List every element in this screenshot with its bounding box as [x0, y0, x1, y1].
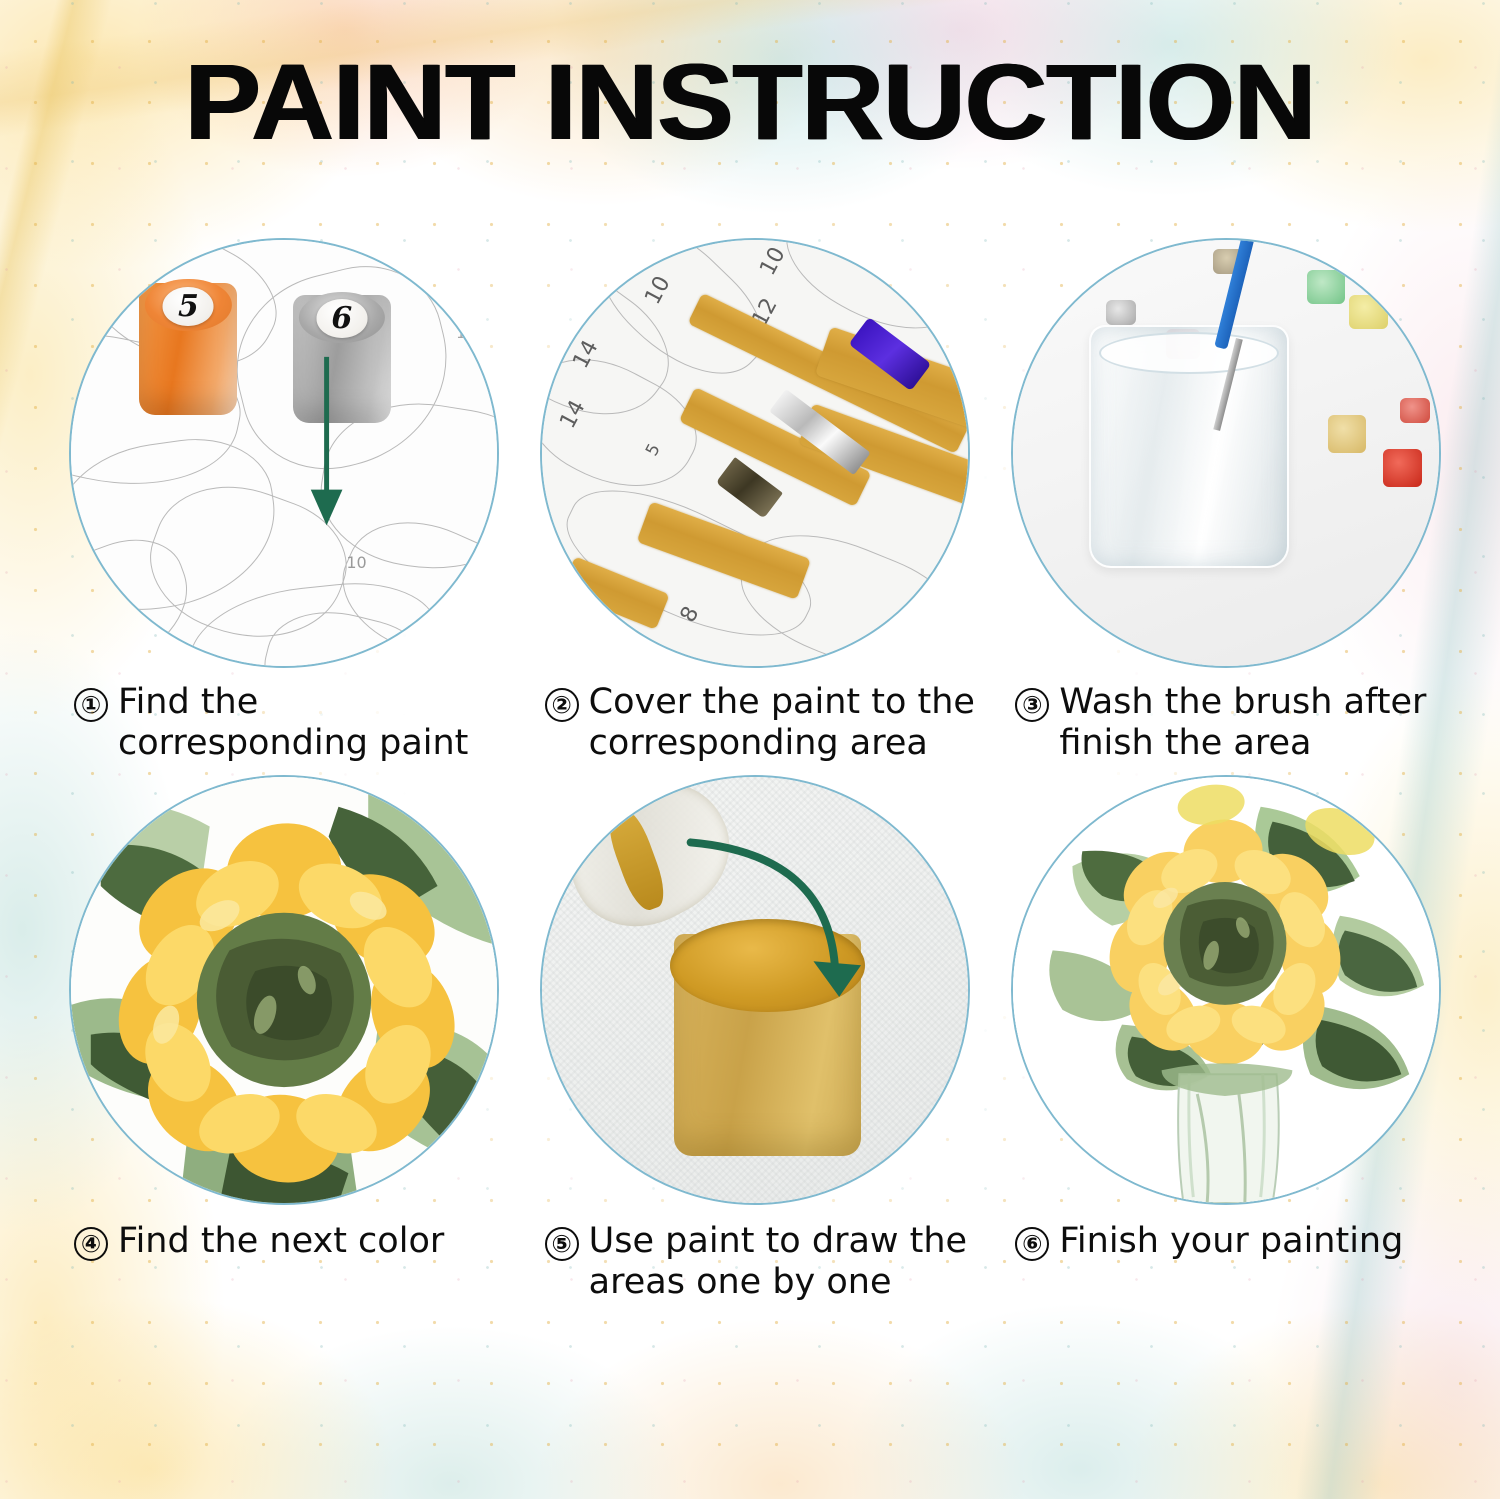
sunflower-closeup-artwork	[71, 777, 497, 1203]
paint-pot	[1307, 270, 1345, 304]
paint-instruction-poster: PAINT INSTRUCTION	[0, 0, 1500, 1499]
step-3: ③ Wash the brush after finish the area	[1001, 238, 1450, 765]
step-6-caption: ⑥ Finish your painting	[1001, 1205, 1450, 1262]
painted-sunflower-closeup-photo	[69, 775, 499, 1205]
thin-brush	[1217, 238, 1311, 436]
step-number-badge: ①	[74, 688, 108, 722]
step-1-photo-wrap: 10 12 5 6	[69, 238, 499, 668]
step-caption-text: Finish your painting	[1059, 1221, 1403, 1262]
paint-pots-on-canvas-photo: 10 12 5 6	[69, 238, 499, 668]
step-4-caption: ④ Find the next color	[60, 1205, 509, 1262]
sunflower-bouquet-artwork	[1013, 777, 1439, 1203]
step-caption-text: Find the corresponding paint	[118, 682, 509, 765]
brush-painting-canvas-photo: 10 10 12 14 14 5 8	[540, 238, 970, 668]
step-2-photo-wrap: 10 10 12 14 14 5 8	[540, 238, 970, 668]
step-caption-text: Wash the brush after finish the area	[1059, 682, 1450, 765]
step-5-photo-wrap	[540, 775, 970, 1205]
curved-arrow-icon	[542, 777, 968, 1203]
step-1-caption: ① Find the corresponding paint	[60, 668, 509, 765]
step-5: ⑤ Use paint to draw the areas one by one	[531, 775, 980, 1304]
step-4: ④ Find the next color	[60, 775, 509, 1304]
step-6-photo-wrap	[1011, 775, 1441, 1205]
step-2: 10 10 12 14 14 5 8	[531, 238, 980, 765]
step-2-caption: ② Cover the paint to the corresponding a…	[531, 668, 980, 765]
step-number-badge: ②	[545, 688, 579, 722]
paint-pot	[1328, 415, 1366, 453]
finished-sunflower-bouquet-photo	[1011, 775, 1441, 1205]
canvas-number: 10	[756, 243, 791, 279]
step-1: 10 12 5 6	[60, 238, 509, 765]
step-3-caption: ③ Wash the brush after finish the area	[1001, 668, 1450, 765]
step-caption-text: Use paint to draw the areas one by one	[589, 1221, 980, 1304]
paint-pot	[1400, 398, 1430, 424]
brush-in-water-glass-photo	[1011, 238, 1441, 668]
paint-pot	[1106, 300, 1136, 326]
paint-pot	[1349, 295, 1387, 329]
step-number-badge: ③	[1015, 688, 1049, 722]
gold-paint-pot-photo	[540, 775, 970, 1205]
step-6: ⑥ Finish your painting	[1001, 775, 1450, 1304]
down-arrow-icon	[71, 240, 497, 666]
step-3-photo-wrap	[1011, 238, 1441, 668]
step-number-badge: ⑥	[1015, 1227, 1049, 1261]
step-number-badge: ⑤	[545, 1227, 579, 1261]
paint-pot	[1383, 449, 1421, 487]
step-5-caption: ⑤ Use paint to draw the areas one by one	[531, 1205, 980, 1304]
step-caption-text: Find the next color	[118, 1221, 444, 1262]
paint-pot	[1379, 261, 1413, 291]
page-title: PAINT INSTRUCTION	[0, 48, 1500, 156]
step-4-photo-wrap	[69, 775, 499, 1205]
step-caption-text: Cover the paint to the corresponding are…	[589, 682, 980, 765]
flat-brush	[712, 325, 942, 538]
glass-vase	[1161, 1063, 1292, 1203]
steps-grid: 10 12 5 6	[60, 238, 1450, 1303]
step-number-badge: ④	[74, 1227, 108, 1261]
